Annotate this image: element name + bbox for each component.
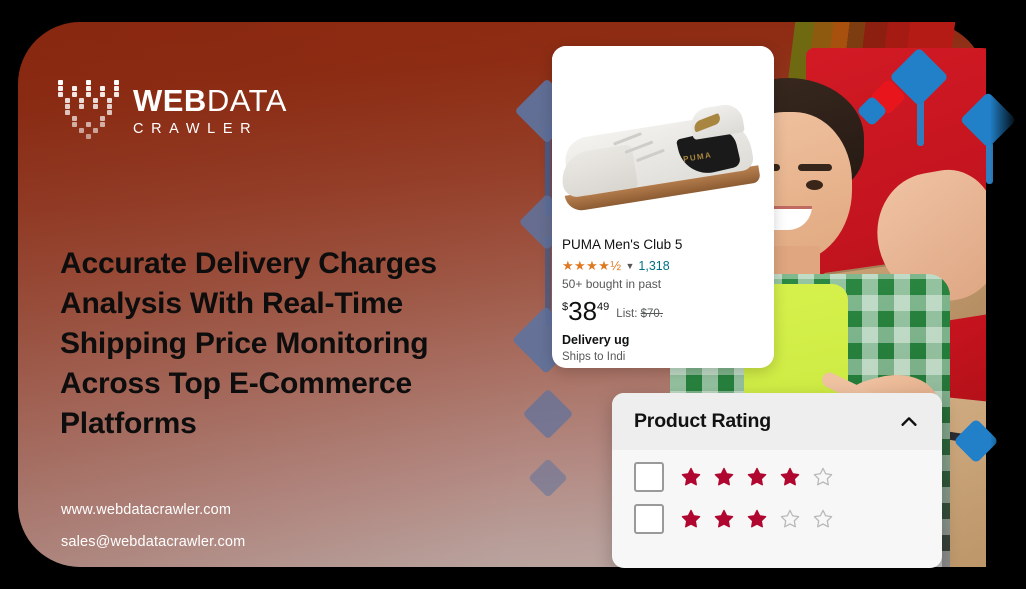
brand-crawler: CRAWLER <box>133 122 287 137</box>
website-link[interactable]: www.webdatacrawler.com <box>61 494 245 526</box>
star-empty-icon[interactable] <box>812 466 834 488</box>
star-filled-icon[interactable] <box>680 466 702 488</box>
review-count[interactable]: 1,318 <box>638 259 669 273</box>
list-price-value: $70. <box>641 308 663 320</box>
rating-filter-row[interactable] <box>612 492 942 534</box>
product-stars-icon: ★★★★½ <box>562 258 621 274</box>
product-card-body: PUMA Men's Club 5 ★★★★½ ▼ 1,318 50+ boug… <box>552 236 774 363</box>
brand-web: WEB <box>133 83 207 118</box>
star-empty-icon[interactable] <box>779 508 801 530</box>
star-group <box>680 508 834 530</box>
list-price: List: $70. <box>616 308 663 320</box>
price-fraction: 49 <box>597 301 609 313</box>
rating-filter-header[interactable]: Product Rating <box>612 393 942 450</box>
diamond-stem <box>917 100 924 146</box>
puma-sneaker-image: PUMA <box>552 46 774 236</box>
eye <box>806 180 823 190</box>
product-title[interactable]: PUMA Men's Club 5 <box>562 236 764 253</box>
dotted-w-logo-icon <box>58 80 122 142</box>
star-filled-icon[interactable] <box>779 466 801 488</box>
contact-info: www.webdatacrawler.com sales@webdatacraw… <box>61 494 245 558</box>
rating-filter-row[interactable] <box>612 450 942 492</box>
star-filled-icon[interactable] <box>746 508 768 530</box>
star-filled-icon[interactable] <box>713 466 735 488</box>
price-whole: 38 <box>568 298 597 324</box>
delivery-text: Delivery ug <box>562 333 764 347</box>
brand-name-line: WEBDATA <box>133 85 287 116</box>
brand-logo: WEBDATA CRAWLER <box>58 80 287 142</box>
right-edge-fade <box>990 0 1026 589</box>
sneaker-illustration: PUMA <box>552 79 761 212</box>
product-rating-filter-panel[interactable]: Product Rating <box>612 393 942 568</box>
rating-filter-rows <box>612 450 942 534</box>
star-group <box>680 466 834 488</box>
banner-stage: WEBDATA CRAWLER Accurate Delivery Charge… <box>0 0 1026 589</box>
bought-count-text: 50+ bought in past <box>562 277 764 291</box>
brand-wordmark: WEBDATA CRAWLER <box>133 85 287 137</box>
page-title: Accurate Delivery Charges Analysis With … <box>60 244 512 444</box>
star-filled-icon[interactable] <box>713 508 735 530</box>
chevron-up-icon[interactable] <box>898 411 920 433</box>
list-label: List: <box>616 308 637 320</box>
brand-data: DATA <box>207 83 287 118</box>
eyebrow <box>798 164 832 171</box>
checkbox-three-star-filter[interactable] <box>634 504 664 534</box>
checkbox-four-star-filter[interactable] <box>634 462 664 492</box>
ships-to-text: Ships to Indi <box>562 351 764 363</box>
star-empty-icon[interactable] <box>812 508 834 530</box>
email-link[interactable]: sales@webdatacrawler.com <box>61 526 245 558</box>
star-filled-icon[interactable] <box>680 508 702 530</box>
chevron-down-icon[interactable]: ▼ <box>625 261 634 271</box>
star-filled-icon[interactable] <box>746 466 768 488</box>
rating-filter-title: Product Rating <box>634 410 771 433</box>
product-rating-row[interactable]: ★★★★½ ▼ 1,318 <box>562 258 764 274</box>
product-card[interactable]: PUMA PUMA Men's Club 5 ★★★★½ ▼ 1,318 50+… <box>552 46 774 368</box>
product-price: $ 38 49 List: $70. <box>562 298 764 324</box>
